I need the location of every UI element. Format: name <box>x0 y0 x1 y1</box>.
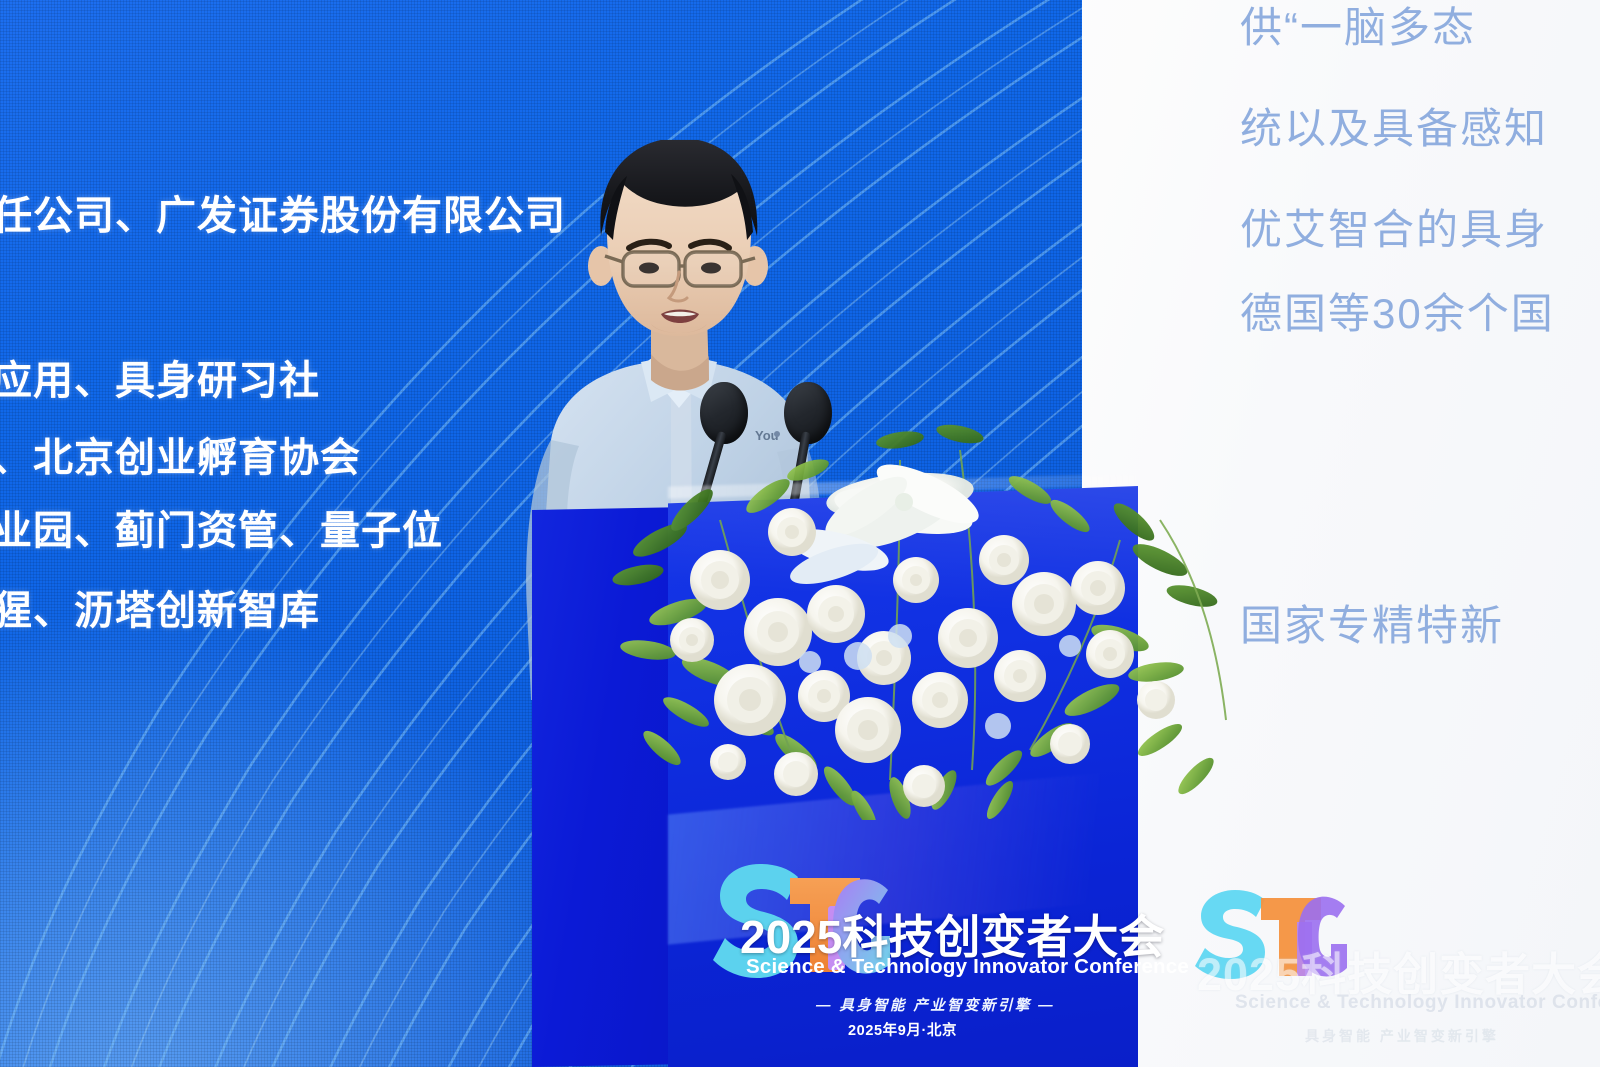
podium-logo-tagline: — 具身智能 产业智变新引擎 — <box>816 994 1055 1015</box>
rose-cluster <box>670 508 1175 807</box>
led-slide-line-5: 猩、沥塔创新智库 <box>0 578 320 636</box>
wall-slide-line-2: 统以及具备感知 <box>1240 95 1548 156</box>
led-slide-line-4: 业园、蓟门资管、量子位 <box>0 498 443 556</box>
wall-logo-tagline: 具身智能 产业智变新引擎 <box>1305 1026 1499 1046</box>
podium-logo-block: 2025科技创变者大会 Science & Technology Innovat… <box>704 854 1124 1034</box>
wall-slide-line-1: 供“一脑多态 <box>1240 0 1476 55</box>
wall-slide-line-4: 德国等30余个国 <box>1240 280 1555 341</box>
flower-arrangement-illustration <box>600 400 1240 820</box>
podium-event-date: 2025年9月·北京 <box>848 1019 957 1040</box>
wall-slide-line-3: 优艾智合的具身 <box>1240 196 1548 257</box>
podium-logo-subtitle: Science & Technology Innovator Conferenc… <box>746 955 1189 979</box>
wall-slide-line-5: 国家专精特新 <box>1240 592 1504 653</box>
flower-arrangement <box>600 400 1240 820</box>
wall-ghost-logo: 2025科技创变者大会 Science & Technology Innovat… <box>1185 876 1585 1026</box>
led-slide-line-2: 应用、具身研习社 <box>0 348 320 406</box>
screenshot-stage: 任公司、广发证券股份有限公司 应用、具身研习社 、北京创业孵育协会 业园、蓟门资… <box>0 0 1600 1067</box>
led-slide-line-3: 、北京创业孵育协会 <box>0 425 361 483</box>
wall-logo-subtitle: Science & Technology Innovator Conferenc… <box>1235 992 1600 1014</box>
